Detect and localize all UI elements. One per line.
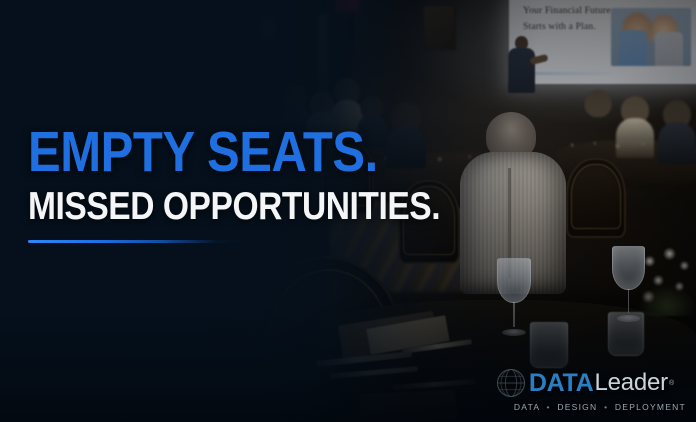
doorway-light (318, 14, 328, 96)
audience-member (580, 90, 616, 150)
drinking-tumbler (608, 312, 644, 356)
logo-wordmark-row: DATA Leader ® (494, 366, 686, 400)
slide-stock-photo (611, 8, 691, 66)
logo-word-data: DATA (529, 369, 594, 398)
accent-bar (28, 240, 246, 243)
promo-banner: Your Financial Future Starts with a Plan… (0, 0, 696, 422)
water-goblet (497, 258, 531, 336)
tagline-separator-icon: • (546, 402, 550, 412)
goblet-bowl (497, 258, 531, 303)
logo-tagline: DATA • DESIGN • DEPLOYMENT (514, 402, 686, 412)
registered-trademark-icon: ® (669, 380, 674, 387)
floral-centerpiece (636, 242, 696, 316)
goblet-foot (502, 329, 526, 336)
water-goblet (612, 246, 645, 322)
goblet-stem (513, 302, 515, 327)
tagline-separator-icon: • (604, 402, 608, 412)
goblet-bowl (612, 246, 645, 290)
audience-member (658, 100, 696, 164)
speaker-presenter (506, 36, 540, 92)
datalleader-logo[interactable]: DATA Leader ® DATA • DESIGN • DEPLOYMENT (494, 366, 686, 412)
tagline-item-design: DESIGN (557, 402, 597, 412)
headline-line-2: MISSED OPPORTUNITIES. (28, 189, 440, 225)
audience-body (580, 112, 616, 150)
audience-body (658, 122, 696, 164)
exit-sign (335, 0, 357, 11)
headline-line-1: EMPTY SEATS. (28, 126, 440, 178)
headline-block: EMPTY SEATS. MISSED OPPORTUNITIES. (28, 126, 507, 243)
logo-word-leader: Leader (594, 369, 668, 397)
tagline-item-deployment: DEPLOYMENT (615, 402, 686, 412)
paper-handout (359, 390, 456, 422)
audience-member (616, 96, 654, 158)
goblet-stem (628, 289, 630, 313)
chair-back-rim (571, 164, 621, 230)
drinking-tumbler (530, 322, 568, 368)
wall-sconce-light (259, 18, 276, 40)
audience-body (616, 118, 654, 158)
tagline-item-data: DATA (514, 402, 540, 412)
globe-grid-icon (494, 366, 528, 400)
wall-picture-frame-secondary (422, 4, 456, 50)
empty-chair (566, 158, 626, 238)
speaker-body (508, 48, 535, 93)
